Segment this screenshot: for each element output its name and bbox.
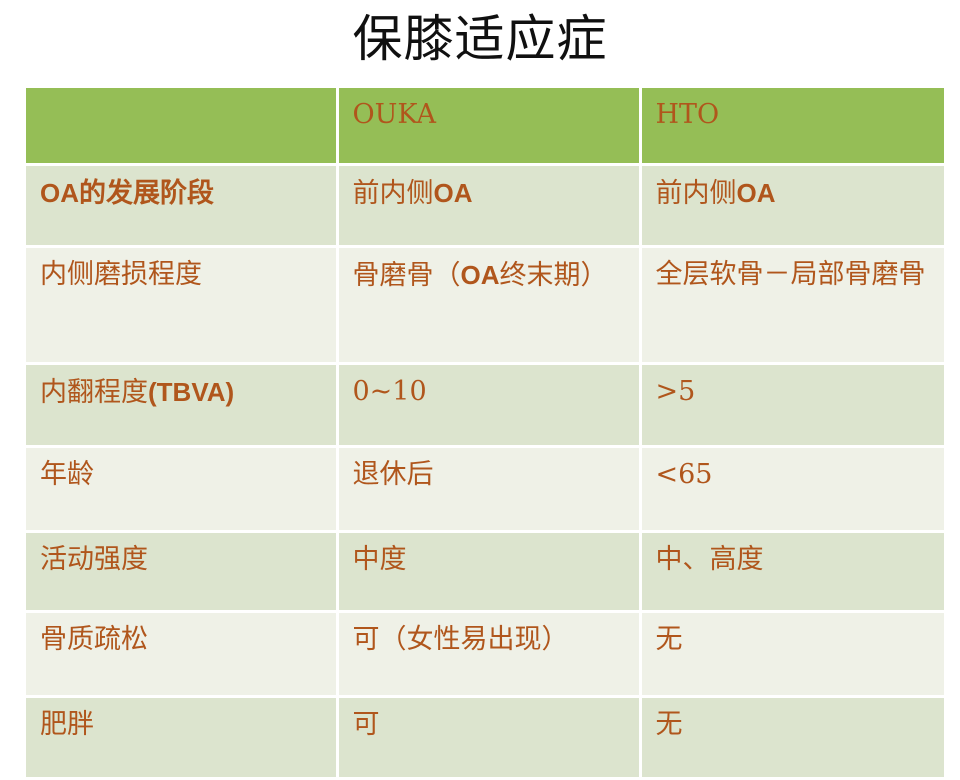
row-label-cell: 活动强度 (26, 532, 337, 612)
hto-value-cjk: 前内侧 (656, 178, 737, 209)
row-label-cell: 内侧磨损程度 (26, 247, 337, 364)
slide-canvas: 保膝适应症 OUKA HTO OA的发展阶段 前内侧OA 前内侧OA 内侧磨损程… (0, 0, 960, 720)
column-header-criteria (26, 88, 337, 165)
row-hto-cell: 无 (640, 697, 944, 779)
row-label-cjk: 的发展阶段 (79, 178, 214, 209)
row-label-latin: (TBVA) (148, 377, 234, 407)
ouka-value-cjk: 前内侧 (353, 178, 434, 209)
row-ouka-cell: 可 (337, 697, 640, 779)
ouka-value-latin: OA (461, 260, 500, 290)
row-label-latin: OA (40, 178, 79, 208)
table-row: OA的发展阶段 前内侧OA 前内侧OA (26, 165, 944, 247)
indications-comparison-table: OUKA HTO OA的发展阶段 前内侧OA 前内侧OA 内侧磨损程度 骨磨骨（… (26, 88, 944, 780)
row-hto-cell: 中、高度 (640, 532, 944, 612)
table-row: 年龄 退休后 <65 (26, 447, 944, 532)
ouka-value-latin: OA (434, 178, 473, 208)
row-ouka-cell: 0~10 (337, 364, 640, 447)
column-header-hto: HTO (640, 88, 944, 165)
row-label-cell: 骨质疏松 (26, 612, 337, 697)
row-ouka-cell: 退休后 (337, 447, 640, 532)
column-header-ouka: OUKA (337, 88, 640, 165)
row-label-cell: 年龄 (26, 447, 337, 532)
row-ouka-cell: 中度 (337, 532, 640, 612)
row-ouka-cell: 骨磨骨（OA终末期） (337, 247, 640, 364)
row-ouka-cell: 可（女性易出现） (337, 612, 640, 697)
row-hto-cell: <65 (640, 447, 944, 532)
table-body: OA的发展阶段 前内侧OA 前内侧OA 内侧磨损程度 骨磨骨（OA终末期） 全层… (26, 165, 944, 779)
table-row: 肥胖 可 无 (26, 697, 944, 779)
row-label-cell: OA的发展阶段 (26, 165, 337, 247)
row-label-cell: 肥胖 (26, 697, 337, 779)
row-label-cjk: 内翻程度 (40, 377, 148, 408)
row-hto-cell: >5 (640, 364, 944, 447)
row-ouka-cell: 前内侧OA (337, 165, 640, 247)
ouka-value-prefix: 骨磨骨（ (353, 260, 461, 291)
row-label-cell: 内翻程度(TBVA) (26, 364, 337, 447)
row-hto-cell: 无 (640, 612, 944, 697)
page-title: 保膝适应症 (0, 8, 960, 70)
row-hto-cell: 全层软骨－局部骨磨骨 (640, 247, 944, 364)
hto-value-latin: OA (737, 178, 776, 208)
table-row: 骨质疏松 可（女性易出现） 无 (26, 612, 944, 697)
table-row: 活动强度 中度 中、高度 (26, 532, 944, 612)
row-hto-cell: 前内侧OA (640, 165, 944, 247)
table-header: OUKA HTO (26, 88, 944, 165)
table-header-row: OUKA HTO (26, 88, 944, 165)
table-row: 内翻程度(TBVA) 0~10 >5 (26, 364, 944, 447)
table-row: 内侧磨损程度 骨磨骨（OA终末期） 全层软骨－局部骨磨骨 (26, 247, 944, 364)
ouka-value-suffix: 终末期） (500, 260, 608, 291)
